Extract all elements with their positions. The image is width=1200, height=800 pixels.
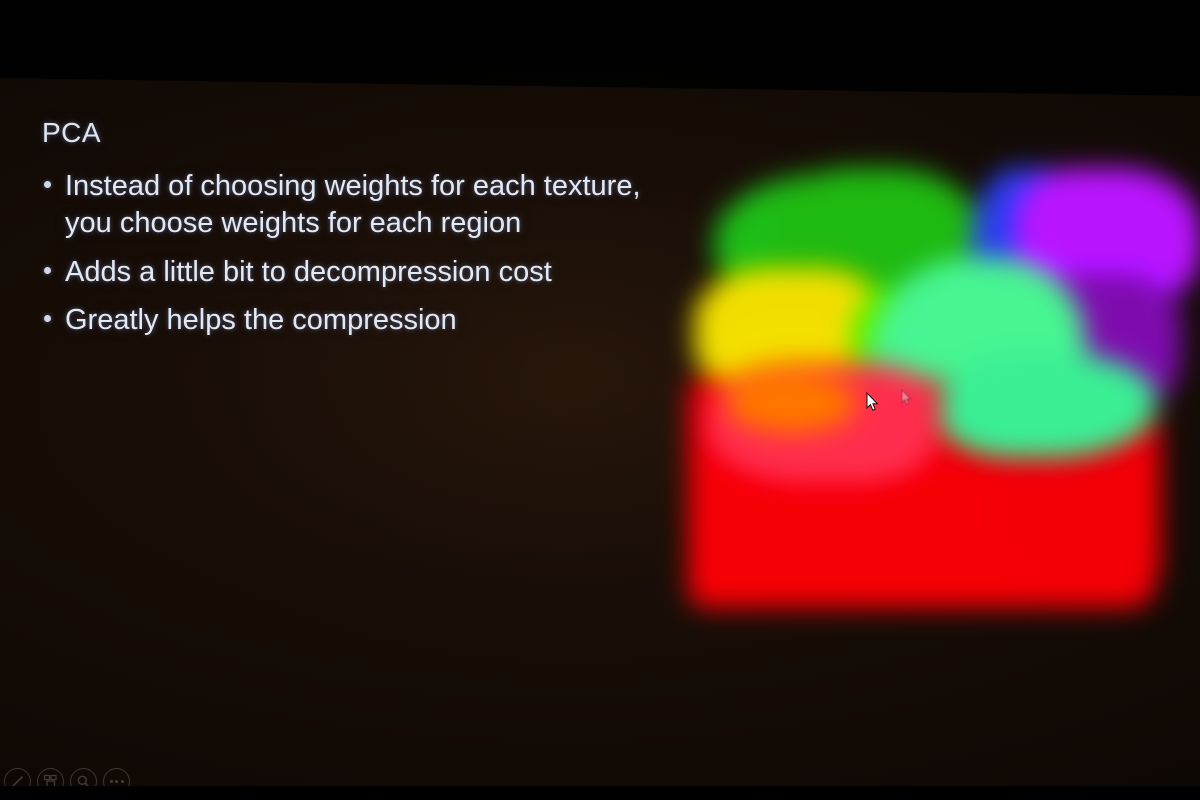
screen-bottom-edge <box>0 786 1200 800</box>
screenshot-stage: PCA Instead of choosing weights for each… <box>0 0 1200 800</box>
projector-hotspot <box>0 70 1200 770</box>
